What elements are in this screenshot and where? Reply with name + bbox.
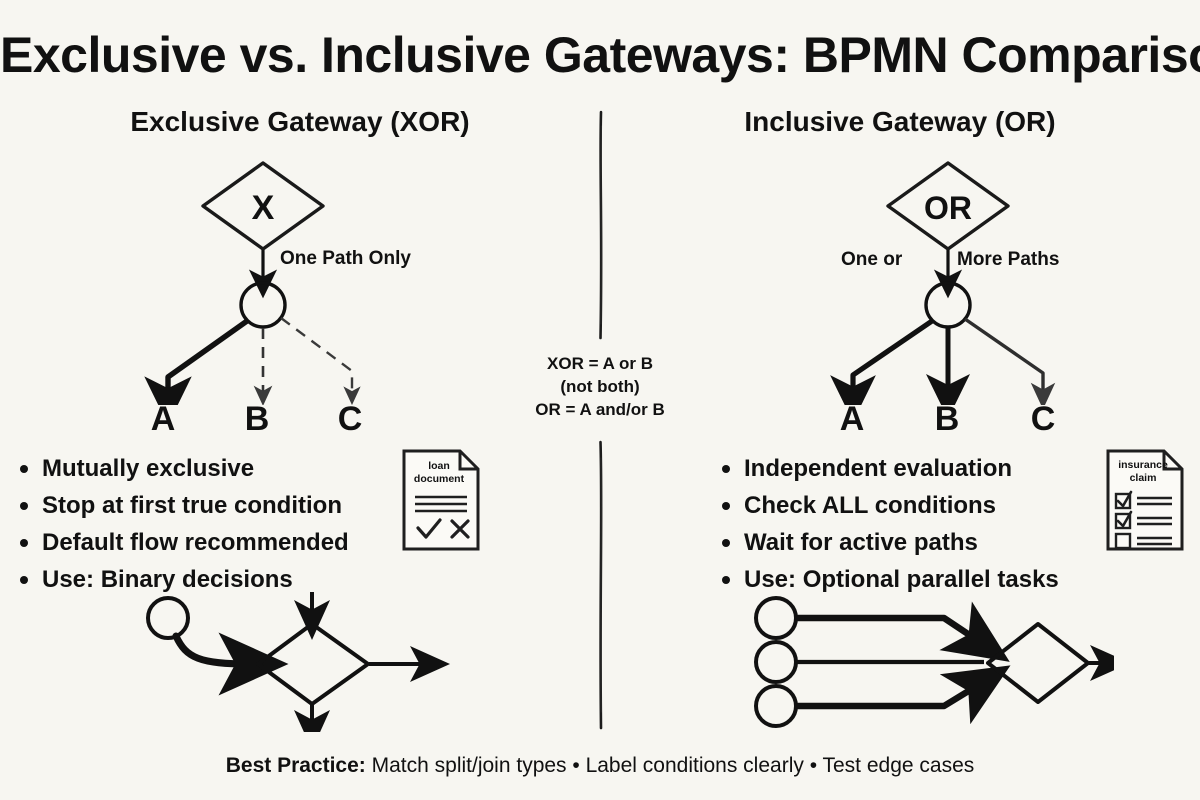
infographic-canvas: Exclusive vs. Inclusive Gateways: BPMN C… — [0, 0, 1200, 800]
formula-line-1: XOR = A or B — [480, 352, 720, 375]
formula-block: XOR = A or B (not both) OR = A and/or B — [480, 352, 720, 421]
insurance-claim-label-line2: claim — [1109, 472, 1177, 485]
or-join-sketch — [748, 592, 1114, 732]
list-item: Mutually exclusive — [16, 452, 406, 485]
list-item: Check ALL conditions — [718, 489, 1118, 522]
xor-flow-label: One Path Only — [280, 248, 411, 270]
list-item: Independent evaluation — [718, 452, 1118, 485]
page-title: Exclusive vs. Inclusive Gateways: BPMN C… — [0, 26, 1200, 84]
footer-text: Match split/join types • Label condition… — [366, 754, 974, 777]
divider-line-bottom — [594, 440, 608, 730]
xor-bullet-list: Mutually exclusive Stop at first true co… — [16, 452, 406, 600]
footer-label: Best Practice: — [226, 754, 366, 777]
loan-document-label-line1: loan — [406, 460, 472, 473]
or-branch-letter-c: C — [1020, 400, 1066, 439]
loan-document-label-line2: document — [406, 473, 472, 486]
footer-best-practice: Best Practice: Match split/join types • … — [0, 752, 1200, 780]
or-gateway-diagram: OR — [810, 155, 1130, 405]
xor-branch-letter-b: B — [234, 400, 280, 439]
divider-line-top — [594, 110, 608, 340]
insurance-claim-icon: insurance claim — [1104, 448, 1186, 557]
list-item: Default flow recommended — [16, 526, 406, 559]
insurance-claim-label-line1: insurance — [1109, 459, 1177, 472]
or-branch-letter-a: A — [829, 400, 875, 439]
insurance-claim-label: insurance claim — [1109, 459, 1177, 485]
xor-split-sketch — [140, 592, 450, 732]
list-item: Wait for active paths — [718, 526, 1118, 559]
svg-text:X: X — [252, 189, 275, 227]
loan-document-icon: loan document — [400, 448, 482, 557]
list-item: Stop at first true condition — [16, 489, 406, 522]
svg-text:OR: OR — [924, 190, 972, 226]
or-flow-label-right: More Paths — [957, 249, 1059, 271]
loan-document-label: loan document — [406, 460, 472, 486]
or-bullet-list: Independent evaluation Check ALL conditi… — [718, 452, 1118, 600]
xor-branch-letter-c: C — [327, 400, 373, 439]
left-column-heading: Exclusive Gateway (XOR) — [60, 104, 540, 140]
right-column-heading: Inclusive Gateway (OR) — [660, 104, 1140, 140]
xor-gateway-diagram: X — [120, 155, 440, 405]
formula-line-2: (not both) — [480, 375, 720, 398]
formula-line-3: OR = A and/or B — [480, 398, 720, 421]
xor-branch-letter-a: A — [140, 400, 186, 439]
or-flow-label-left: One or — [841, 249, 902, 271]
or-branch-letter-b: B — [924, 400, 970, 439]
